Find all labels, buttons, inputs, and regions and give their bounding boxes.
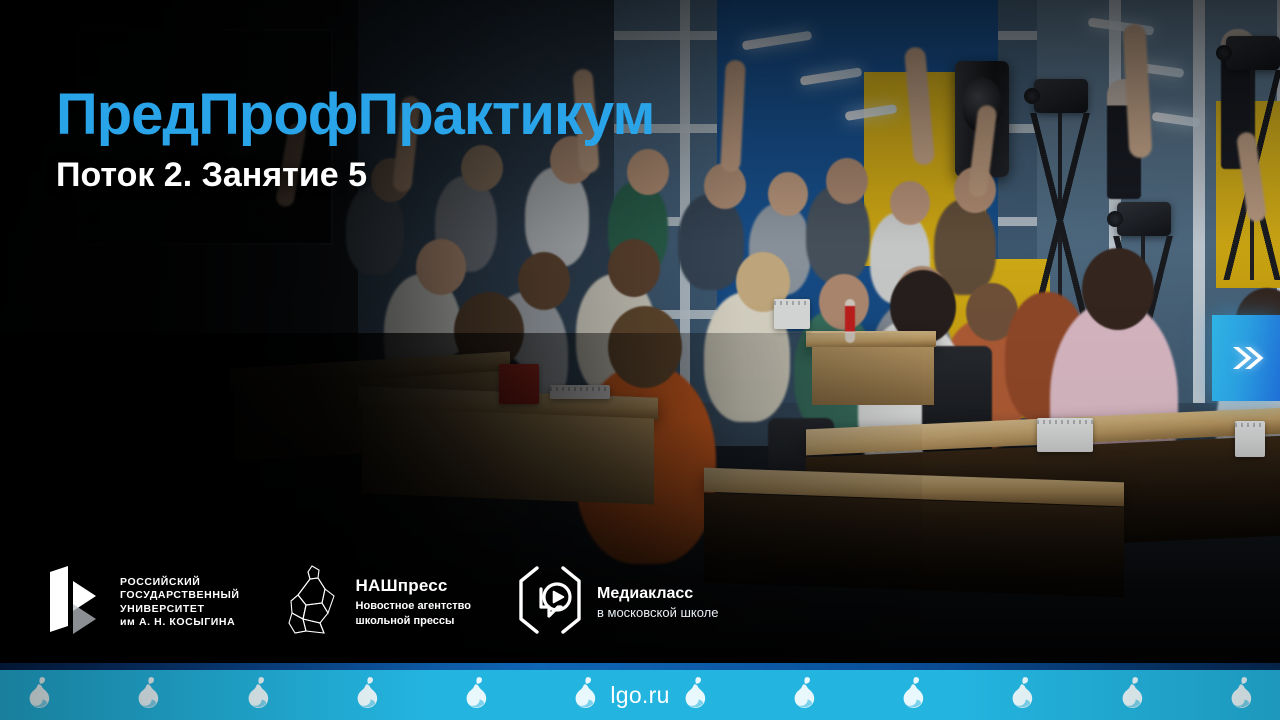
title-capital: П (198, 82, 239, 147)
hexagon-play-bubble-icon (515, 563, 585, 642)
logo-rgu-label: РОССИЙСКИЙ ГОСУДАРСТВЕННЫЙ УНИВЕРСИТЕТ и… (120, 576, 240, 630)
title-segment: ред (97, 82, 199, 147)
partner-logos: РОССИЙСКИЙ ГОСУДАРСТВЕННЫЙ УНИВЕРСИТЕТ и… (46, 563, 718, 642)
slide-root: ПредПрофПрактикум Поток 2. Занятие 5 РОС… (0, 0, 1280, 720)
logo-mediaclass-subtitle: в московской школе (597, 605, 718, 621)
title-segment: рактикум (398, 82, 654, 147)
logo-mediaclass-text: Медиакласс в московской школе (597, 585, 718, 621)
logo-nashpress-text: НАШпресс Новостное агентство школьной пр… (356, 577, 471, 628)
next-slide-button[interactable] (1212, 315, 1280, 401)
logo-mediaclass: Медиакласс в московской школе (515, 563, 718, 642)
logo-nashpress: НАШпресс Новостное агентство школьной пр… (284, 563, 471, 642)
site-url[interactable]: lgo.ru (0, 670, 1280, 720)
title-capital: П (358, 82, 399, 147)
logo-nashpress-title: НАШпресс (356, 576, 448, 595)
logo-mediaclass-title: Медиакласс (597, 585, 718, 603)
page-title: ПредПрофПрактикум (56, 86, 654, 144)
bottom-brand-strip: lgo.ru (0, 663, 1280, 720)
strip-top-line (0, 663, 1280, 670)
title-block: ПредПрофПрактикум Поток 2. Занятие 5 (56, 86, 654, 195)
title-capital: П (56, 82, 97, 147)
page-subtitle: Поток 2. Занятие 5 (56, 156, 654, 195)
polygonal-crystal-icon (284, 563, 344, 642)
logo-nashpress-subtitle: Новостное агентство школьной прессы (356, 599, 471, 628)
kosygin-k-logo-icon (46, 564, 108, 641)
logo-rgu-kosygin: РОССИЙСКИЙ ГОСУДАРСТВЕННЫЙ УНИВЕРСИТЕТ и… (46, 564, 240, 641)
double-chevron-right-icon (1226, 338, 1266, 378)
title-segment: роф (239, 82, 358, 147)
